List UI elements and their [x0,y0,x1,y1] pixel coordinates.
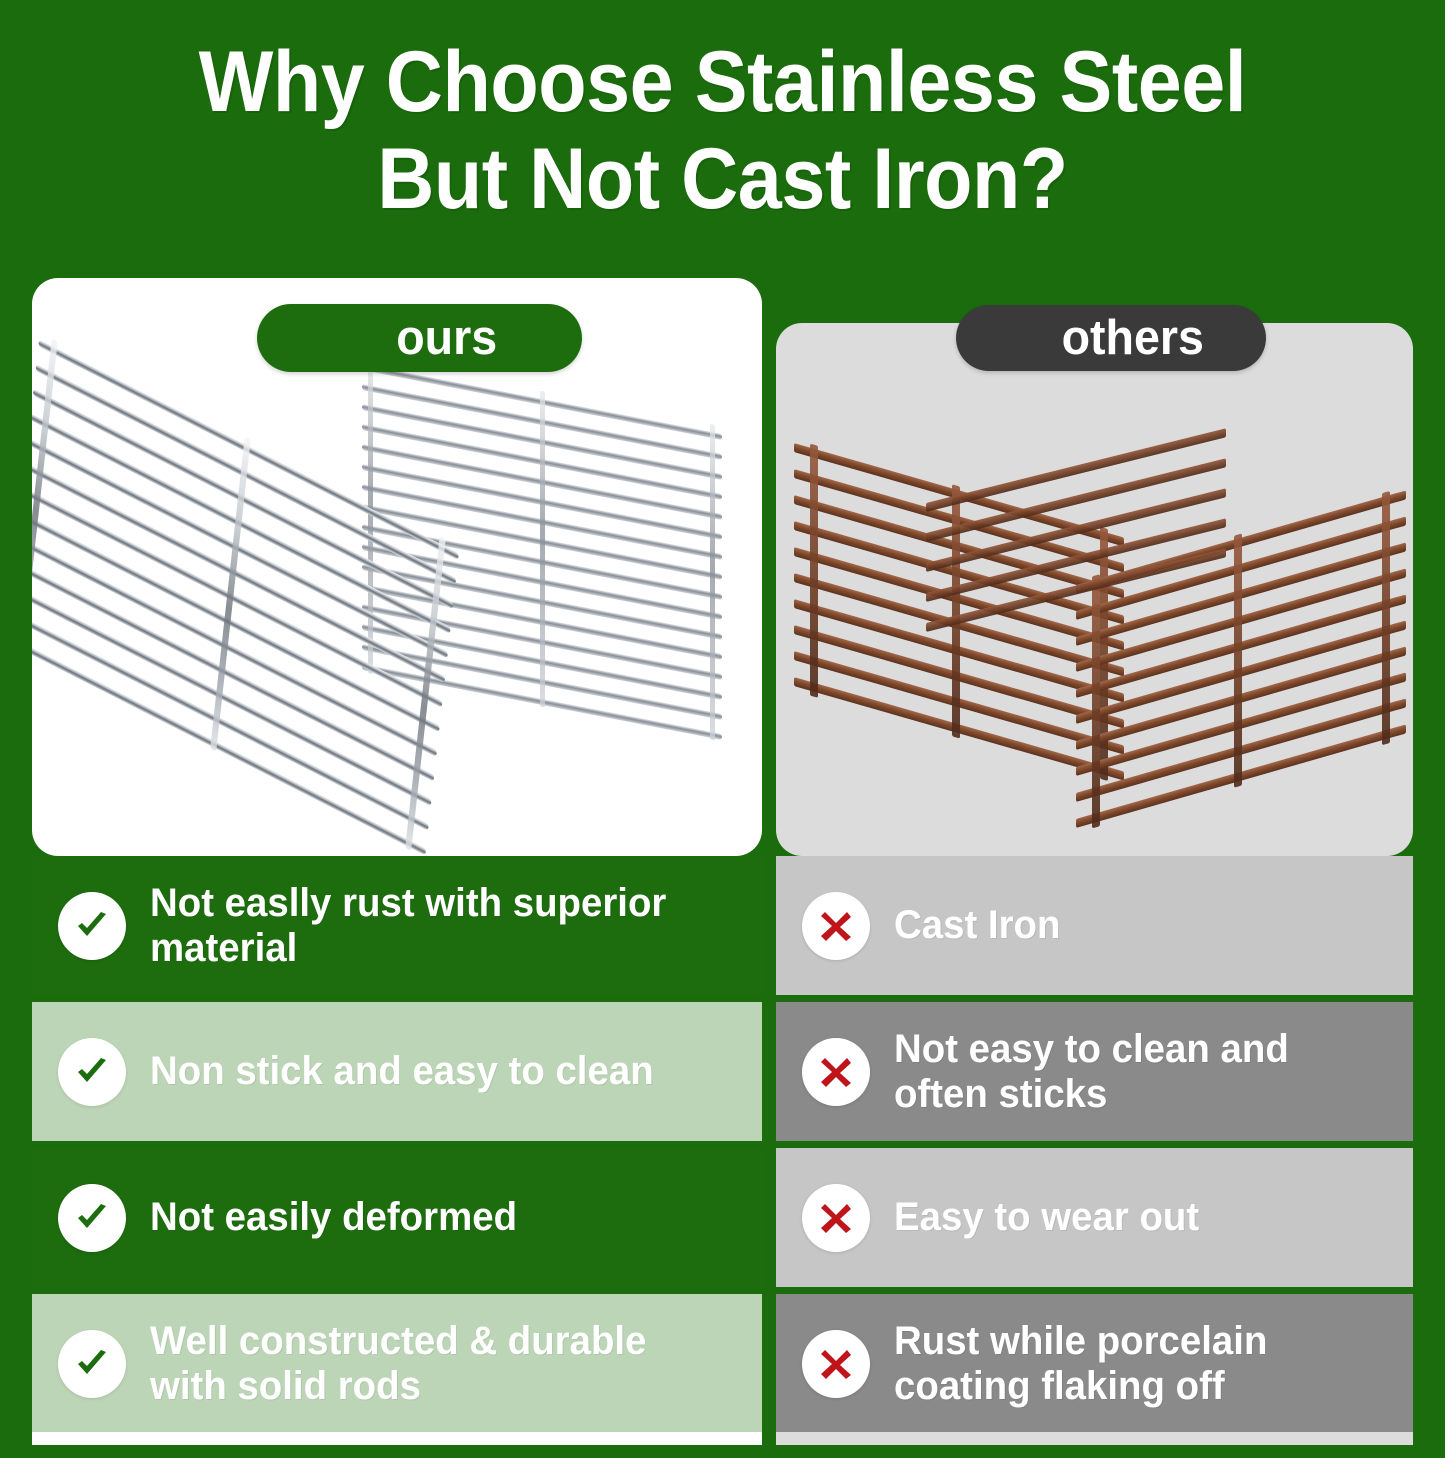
ours-feature-list: Not easlly rust with superior material N… [32,856,762,1433]
cast-iron-grate-illustration [776,323,1413,856]
list-item-label: Not easily deformed [150,1195,517,1240]
list-item[interactable]: Easy to wear out [776,1148,1413,1287]
list-item-label: Cast Iron [894,903,1060,948]
title-line-2: But Not Cast Iron? [58,131,1387,228]
cast-iron-grate-svg [776,323,1413,856]
others-feature-list: Cast Iron Not easy to clean and often st… [776,856,1413,1433]
list-item-label: Rust while porcelain coating flaking off [894,1319,1377,1409]
list-item[interactable]: Rust while porcelain coating flaking off [776,1294,1413,1433]
badge-ours-label: ours [342,310,498,366]
ours-photo-panel: ours [32,278,762,856]
page-title: Why Choose Stainless Steel But Not Cast … [0,0,1445,228]
cross-icon [802,892,870,960]
list-item[interactable]: Not easy to clean and often sticks [776,1002,1413,1141]
badge-ours: ours [257,304,582,372]
check-icon [58,1038,126,1106]
bottom-cut-strip-left [32,1432,762,1445]
cross-icon [802,1184,870,1252]
list-item[interactable]: Cast Iron [776,856,1413,995]
list-item[interactable]: Not easily deformed [32,1148,762,1287]
list-item-label: Easy to wear out [894,1195,1199,1240]
badge-others-label: others [1018,310,1204,366]
list-item-label: Well constructed & durable with solid ro… [150,1319,722,1409]
list-item-label: Non stick and easy to clean [150,1049,654,1094]
list-item[interactable]: Not easlly rust with superior material [32,856,762,995]
cross-icon [802,1330,870,1398]
comparison-board: ours Not easlly rust with superior mater… [32,278,1413,1458]
title-line-1: Why Choose Stainless Steel [58,34,1387,131]
list-item-label: Not easy to clean and often sticks [894,1027,1377,1117]
list-item[interactable]: Well constructed & durable with solid ro… [32,1294,762,1433]
check-icon [58,892,126,960]
check-icon [58,1184,126,1252]
column-others: others Cast Iron Not easy to clean an [776,278,1413,1458]
check-icon [58,1330,126,1398]
list-item-label: Not easlly rust with superior material [150,881,722,971]
badge-others: others [956,305,1266,371]
cross-icon [802,1038,870,1106]
bottom-cut-strip-right [776,1432,1413,1445]
others-photo-panel: others [776,323,1413,856]
list-item[interactable]: Non stick and easy to clean [32,1002,762,1141]
column-ours: ours Not easlly rust with superior mater… [32,278,762,1458]
